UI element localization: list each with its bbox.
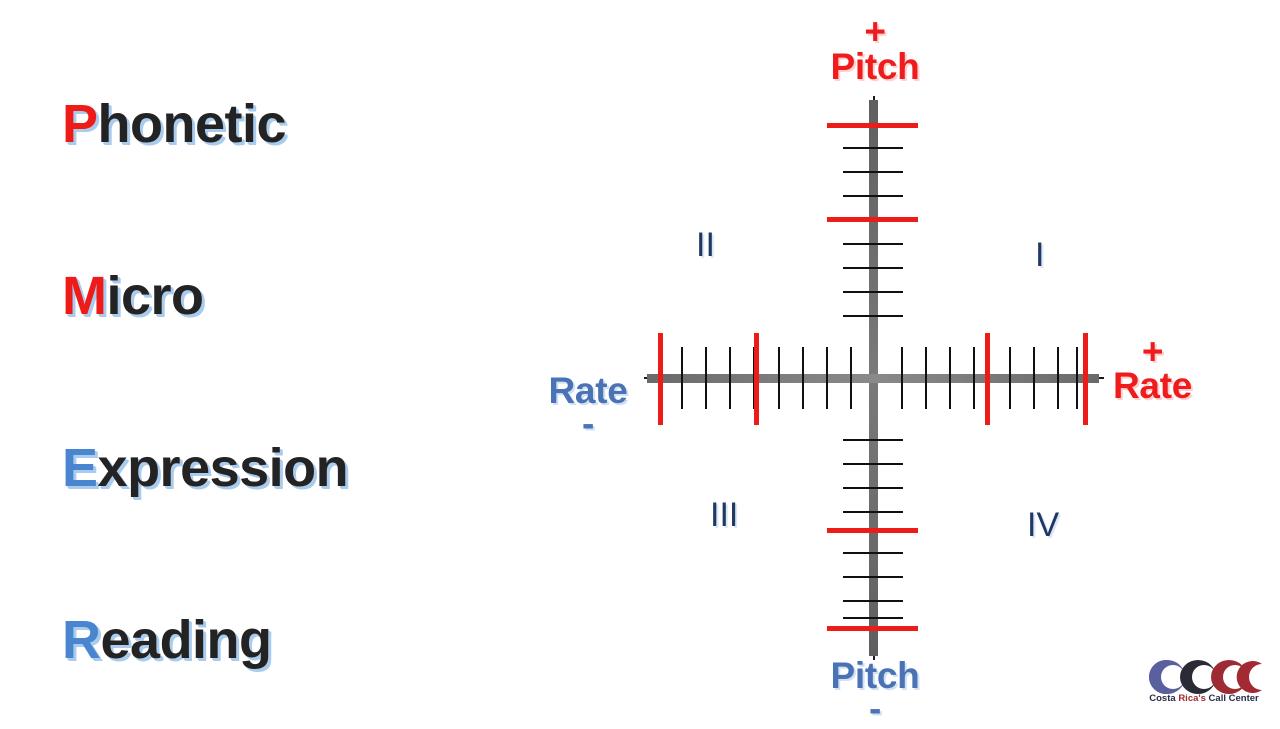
pitch-minor-tick-pos-3 [843, 267, 903, 269]
rate-minor-tick-neg-3 [802, 347, 804, 409]
logo-text: Costa Rica's Call Center [1136, 694, 1272, 704]
rate-positive-text: Rate [1113, 365, 1192, 406]
rate-major-tick-neg-1 [754, 333, 759, 425]
acronym-list: Phonetic Micro Expression Reading [0, 0, 520, 720]
acronym-initial-m: M [62, 266, 106, 326]
company-logo: Costa Rica's Call Center [1136, 658, 1272, 714]
rate-minor-tick-neg-7 [705, 347, 707, 409]
pitch-negative-sign: - [820, 695, 930, 723]
logo-text-costa: Costa [1149, 693, 1178, 704]
rate-minor-tick-pos-4 [973, 347, 975, 409]
pitch-major-tick-pos-2 [827, 123, 918, 128]
rate-minor-tick-pos-5 [1009, 347, 1011, 409]
pitch-minor-tick-pos-6 [843, 195, 903, 197]
acronym-rest-micro: icro [106, 266, 203, 326]
pitch-minor-tick-pos-4 [843, 243, 903, 245]
rate-positive-sign: + [1113, 338, 1192, 366]
acronym-item-micro: Micro [62, 269, 204, 323]
acronym-rest-expression: xpression [98, 438, 349, 498]
quadrant-label-ii: II [696, 228, 715, 262]
pitch-minor-tick-neg-6 [843, 576, 903, 578]
pitch-minor-tick-neg-1 [843, 439, 903, 441]
rate-major-tick-pos-2 [1083, 333, 1088, 425]
pitch-minor-tick-neg-2 [843, 463, 903, 465]
rate-major-tick-neg-2 [658, 333, 663, 425]
rate-minor-tick-neg-1 [850, 347, 852, 409]
pitch-minor-tick-pos-1 [843, 315, 903, 317]
acronym-rest-reading: eading [101, 610, 272, 670]
acronym-item-phonetic: Phonetic [62, 97, 286, 151]
rate-axis-line [647, 374, 1099, 383]
quadrant-label-i: I [1035, 238, 1044, 272]
rate-minor-tick-neg-8 [681, 347, 683, 409]
rate-minor-tick-pos-8 [1076, 347, 1078, 409]
logo-text-rest: Call Center [1206, 693, 1259, 704]
pitch-positive-text: Pitch [831, 46, 920, 87]
rate-minor-tick-pos-7 [1057, 347, 1059, 409]
rate-negative-sign: - [538, 410, 638, 438]
axis-label-pitch-negative: Pitch - [820, 657, 930, 723]
pitch-minor-tick-neg-8 [843, 617, 903, 619]
pitch-minor-tick-pos-2 [843, 291, 903, 293]
pitch-minor-tick-neg-4 [843, 511, 903, 513]
axis-label-rate-positive: + Rate [1113, 338, 1192, 404]
quadrant-label-iv: IV [1027, 508, 1059, 542]
pitch-minor-tick-neg-3 [843, 487, 903, 489]
acronym-initial-e: E [62, 438, 98, 498]
pitch-minor-tick-pos-8 [843, 147, 903, 149]
pitch-minor-tick-pos-7 [843, 171, 903, 173]
acronym-item-expression: Expression [62, 441, 348, 495]
rate-major-tick-pos-1 [985, 333, 990, 425]
logo-mark-icon [1140, 658, 1268, 696]
logo-text-ricas: Rica's [1178, 693, 1206, 704]
acronym-initial-r: R [62, 610, 101, 670]
rate-minor-tick-pos-3 [949, 347, 951, 409]
acronym-initial-p: P [62, 94, 98, 154]
pitch-minor-tick-neg-7 [843, 600, 903, 602]
quadrant-chart: + Pitch Pitch - + Rate Rate - I II III I… [520, 0, 1280, 720]
rate-minor-tick-pos-1 [901, 347, 903, 409]
axis-label-pitch-positive: + Pitch [820, 18, 930, 85]
rate-minor-tick-neg-2 [826, 347, 828, 409]
rate-minor-tick-pos-2 [925, 347, 927, 409]
axis-label-rate-negative: Rate - [538, 372, 638, 438]
rate-minor-tick-neg-6 [729, 347, 731, 409]
rate-minor-tick-neg-4 [778, 347, 780, 409]
pitch-positive-sign: + [820, 18, 930, 46]
rate-minor-tick-pos-6 [1033, 347, 1035, 409]
pitch-minor-tick-neg-5 [843, 552, 903, 554]
acronym-item-reading: Reading [62, 613, 272, 667]
acronym-rest-phonetic: honetic [98, 94, 287, 154]
pitch-major-tick-neg-2 [827, 626, 918, 631]
pitch-major-tick-pos-1 [827, 217, 918, 222]
pitch-major-tick-neg-1 [827, 528, 918, 533]
quadrant-label-iii: III [710, 498, 738, 532]
